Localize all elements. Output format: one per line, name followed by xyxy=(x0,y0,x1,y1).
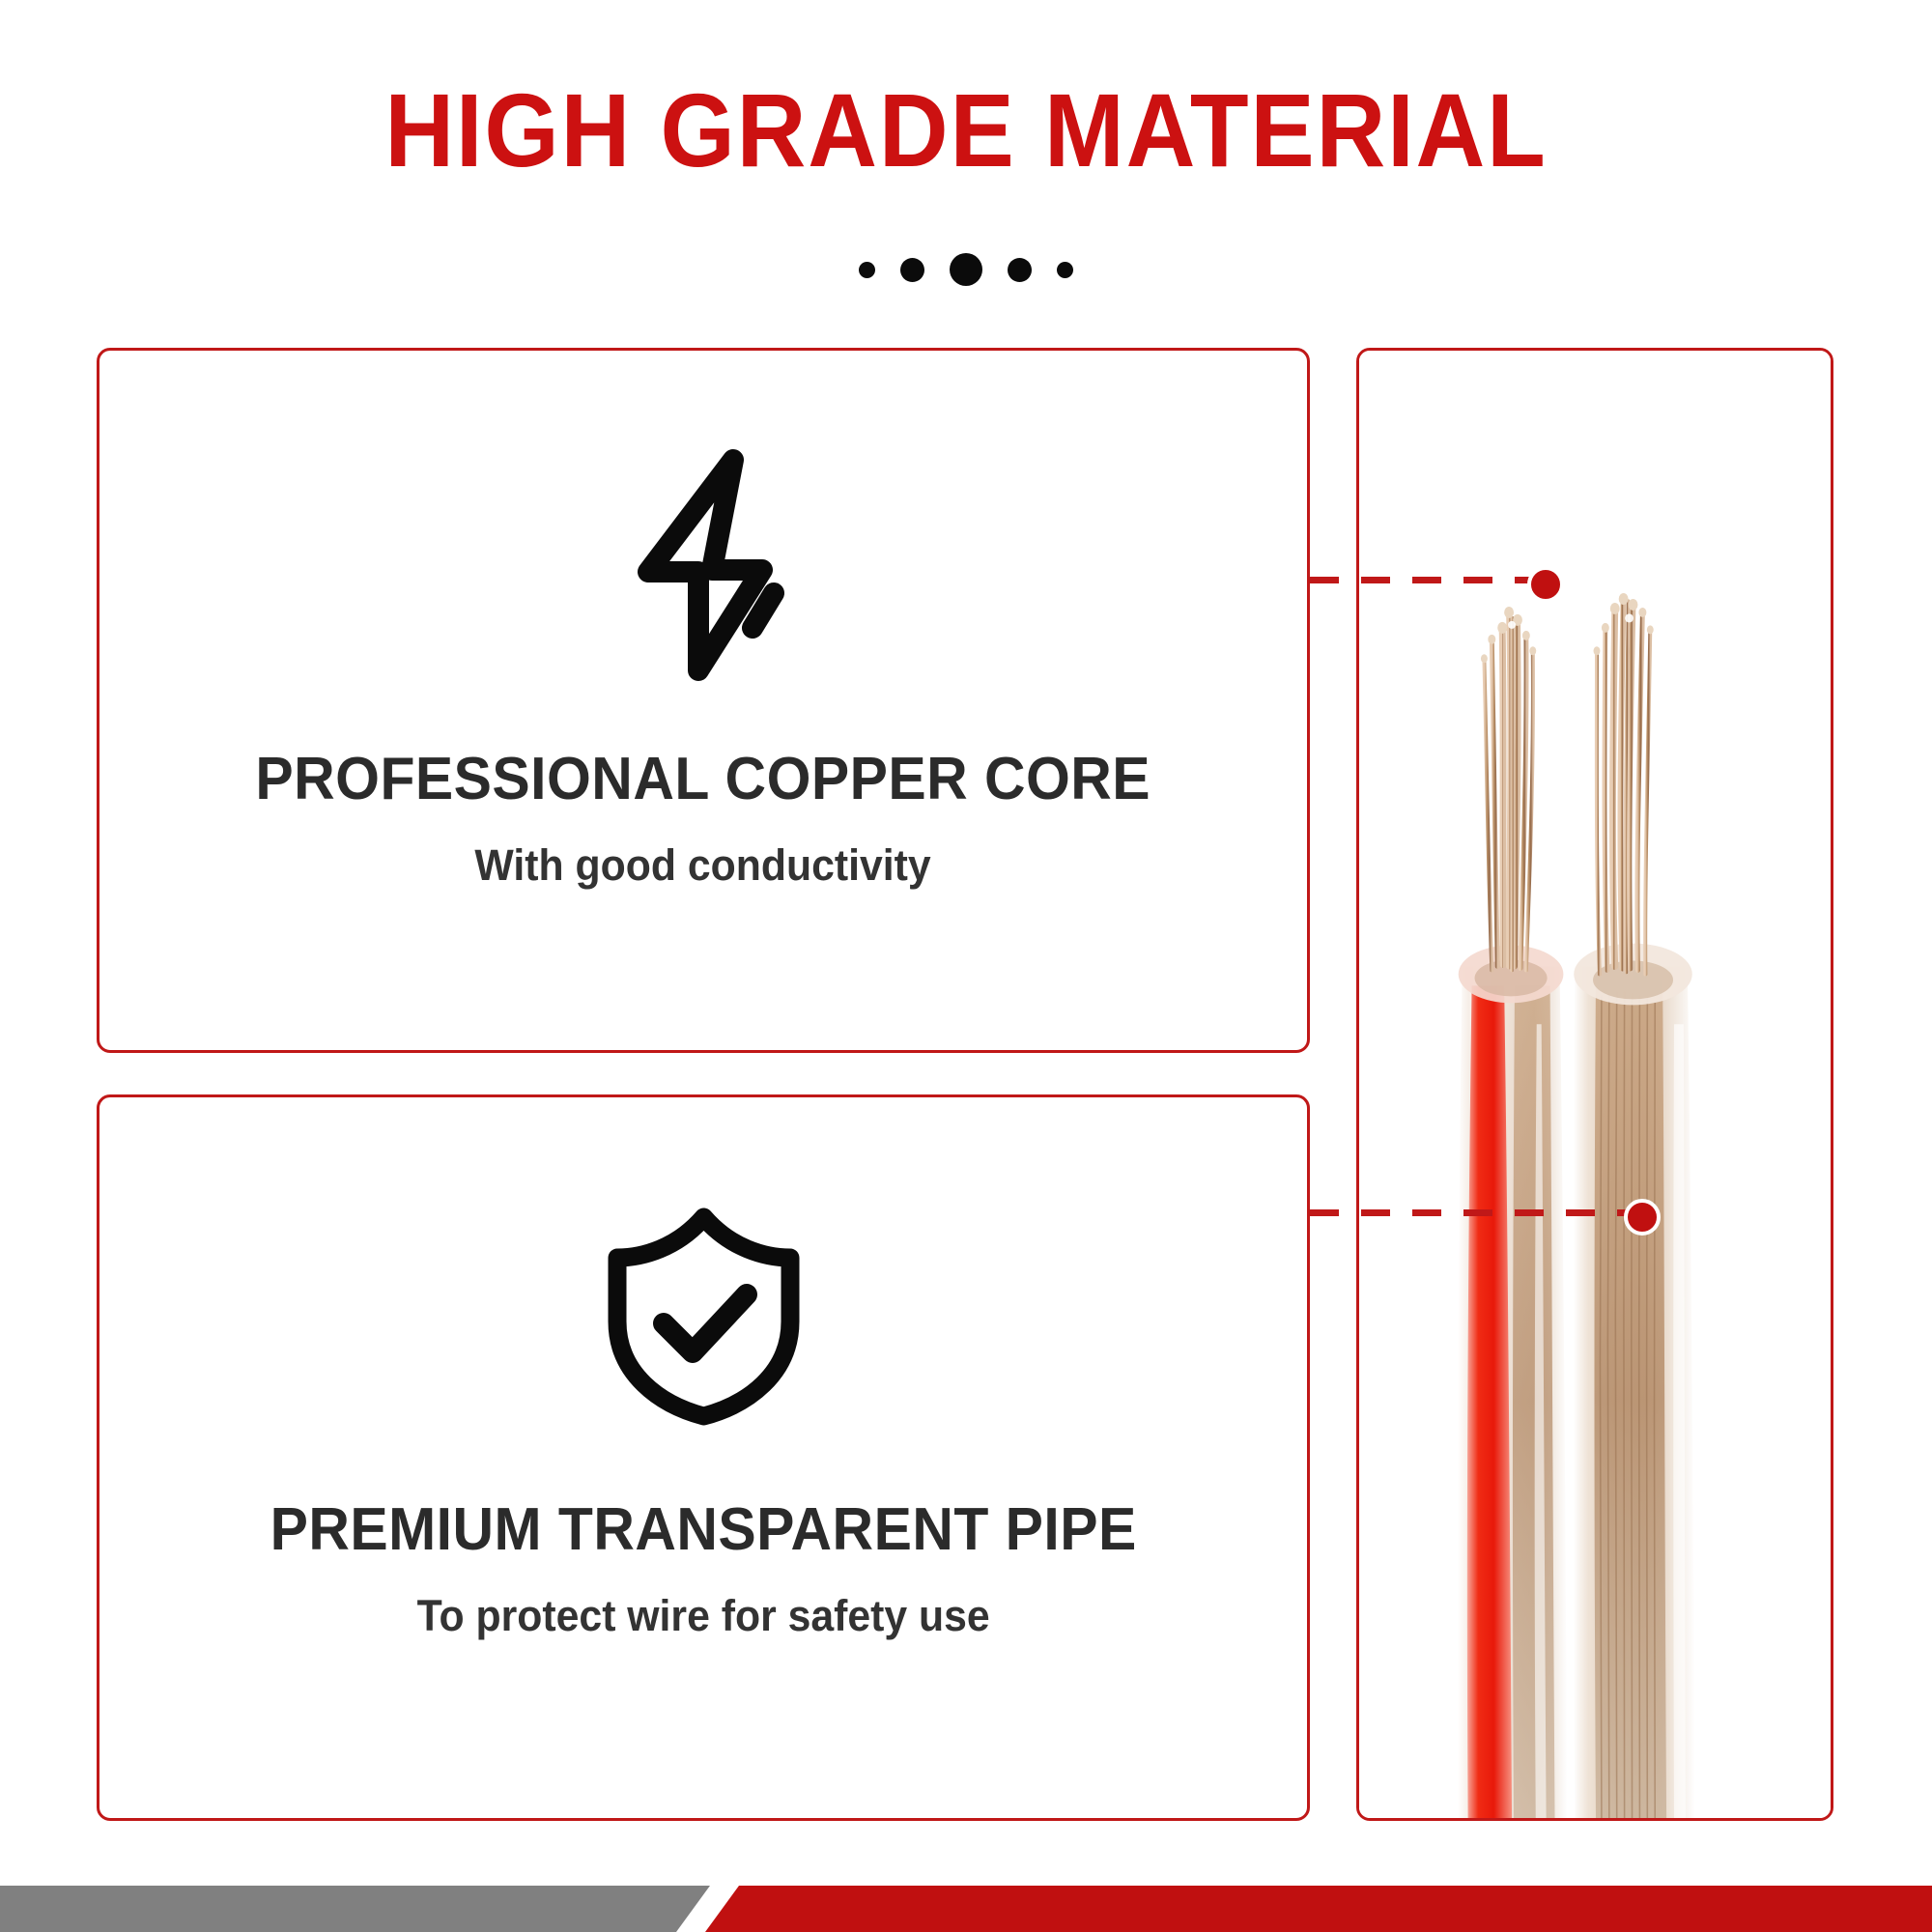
feature-card-transparent-pipe: PREMIUM TRANSPARENT PIPE To protect wire… xyxy=(97,1094,1310,1821)
speaker-wire-photo xyxy=(1359,351,1831,1818)
ornament-dot xyxy=(950,253,982,286)
ornament-dots xyxy=(0,253,1932,286)
connector-transparent-pipe xyxy=(1310,1209,1660,1216)
lightning-bolt-icon xyxy=(611,440,795,695)
product-photo-panel xyxy=(1356,348,1833,1821)
feature-title: PREMIUM TRANSPARENT PIPE xyxy=(270,1495,1136,1564)
ornament-dot xyxy=(1008,258,1032,282)
ornament-dot xyxy=(1057,262,1073,278)
connector-endpoint-dot xyxy=(1527,566,1564,603)
ornament-dot xyxy=(859,262,875,278)
connector-copper-core xyxy=(1310,577,1563,583)
shield-check-icon xyxy=(600,1202,808,1430)
feature-title: PROFESSIONAL COPPER CORE xyxy=(256,745,1151,813)
dashed-line xyxy=(1310,577,1563,583)
footer-bar-gray-segment xyxy=(0,1886,710,1932)
feature-subtitle: To protect wire for safety use xyxy=(416,1591,989,1641)
dashed-line xyxy=(1310,1209,1660,1216)
page-title: HIGH GRADE MATERIAL xyxy=(77,75,1855,185)
footer-bar-red-segment xyxy=(705,1886,1932,1932)
feature-card-copper-core: PROFESSIONAL COPPER CORE With good condu… xyxy=(97,348,1310,1053)
infographic-root: HIGH GRADE MATERIAL PROFESSIONAL COPPER … xyxy=(0,0,1932,1932)
feature-subtitle: With good conductivity xyxy=(475,840,931,891)
ornament-dot xyxy=(900,258,924,282)
connector-endpoint-dot xyxy=(1624,1199,1661,1236)
footer-bar xyxy=(0,1886,1932,1932)
